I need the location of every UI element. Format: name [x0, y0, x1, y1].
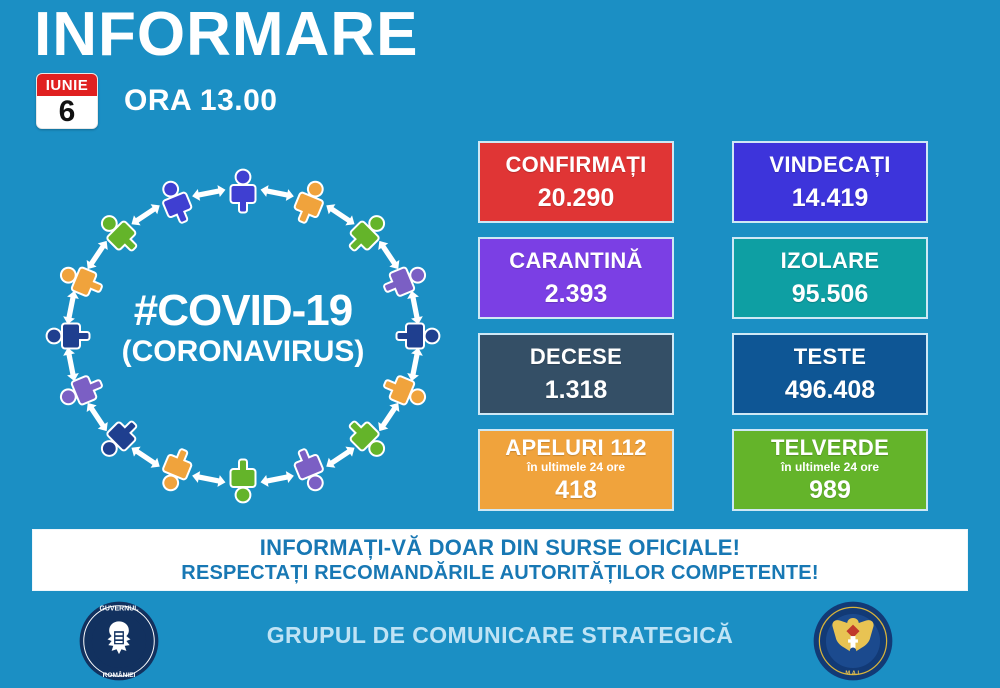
distance-arrow-icon — [83, 238, 112, 273]
person-icon — [47, 324, 90, 349]
distance-arrow-icon — [128, 443, 163, 472]
distance-arrow-icon — [323, 443, 358, 472]
distance-arrow-icon — [323, 200, 358, 229]
person-icon — [156, 445, 196, 494]
svg-text:ROMÂNIEI: ROMÂNIEI — [103, 670, 136, 679]
calendar-day: 6 — [37, 96, 97, 128]
person-icon — [397, 324, 440, 349]
page-title: INFORMARE — [34, 2, 418, 68]
dsu-mai-seal-icon: M.A.I. — [812, 600, 894, 682]
advisory-line-2: RESPECTAȚI RECOMANDĂRILE AUTORITĂȚILOR C… — [181, 561, 818, 585]
stat-telverde: TELVERDEîn ultimele 24 ore989 — [732, 429, 928, 511]
stat-label: DECESE — [530, 344, 622, 370]
distance-arrow-icon — [406, 347, 424, 383]
stat-sublabel: în ultimele 24 ore — [781, 460, 879, 474]
stat-label: CONFIRMAȚI — [505, 152, 646, 178]
distance-arrow-icon — [374, 238, 403, 273]
person-icon — [290, 445, 330, 494]
person-icon — [231, 460, 256, 503]
distance-arrow-icon — [62, 347, 80, 383]
svg-text:M.A.I.: M.A.I. — [845, 671, 861, 677]
stat-value: 14.419 — [792, 183, 868, 213]
stat-value: 989 — [809, 475, 851, 505]
stat-teste: TESTE496.408 — [732, 333, 928, 415]
header: INFORMARE IUNIE 6 ORA 13.00 — [0, 0, 1000, 132]
stat-decese: DECESE1.318 — [478, 333, 674, 415]
stat-confirmati: CONFIRMAȚI20.290 — [478, 141, 674, 223]
statistics-grid: CONFIRMAȚI20.290VINDECAȚI14.419CARANTINĂ… — [478, 141, 928, 516]
person-icon — [380, 372, 429, 412]
distance-arrow-icon — [406, 290, 424, 326]
stat-label: CARANTINĂ — [509, 248, 642, 274]
person-icon — [290, 178, 330, 227]
distance-arrow-icon — [128, 200, 163, 229]
stat-sublabel: în ultimele 24 ore — [527, 460, 625, 474]
person-icon — [156, 178, 196, 227]
calendar-month: IUNIE — [37, 74, 97, 96]
distance-arrow-icon — [259, 470, 295, 488]
calendar-icon: IUNIE 6 — [36, 73, 98, 129]
stat-value: 2.393 — [545, 279, 608, 309]
covid-ring-graphic: #COVID-19 (CORONAVIRUS) — [28, 158, 458, 513]
distance-arrow-icon — [191, 184, 227, 202]
stat-label: TESTE — [794, 344, 866, 370]
person-icon — [231, 170, 256, 213]
stat-label: VINDECAȚI — [769, 152, 890, 178]
svg-text:GUVERNUL: GUVERNUL — [99, 606, 139, 613]
distance-arrow-icon — [83, 400, 112, 435]
stat-carantina: CARANTINĂ2.393 — [478, 237, 674, 319]
distance-arrow-icon — [191, 470, 227, 488]
distance-arrow-icon — [62, 290, 80, 326]
footer: GUVERNUL ROMÂNIEI GRUPUL DE COMUNICARE S… — [0, 596, 1000, 688]
person-icon — [57, 372, 106, 412]
stat-label: APELURI 112 — [505, 435, 646, 461]
stat-value: 95.506 — [792, 279, 868, 309]
date-time-row: IUNIE 6 ORA 13.00 — [36, 73, 277, 129]
distance-arrow-icon — [374, 400, 403, 435]
person-icon — [380, 261, 429, 301]
stat-apeluri-112: APELURI 112în ultimele 24 ore418 — [478, 429, 674, 511]
report-time: ORA 13.00 — [124, 84, 277, 118]
covid-people-ring-icon — [28, 158, 458, 513]
stat-izolare: IZOLARE95.506 — [732, 237, 928, 319]
stat-value: 496.408 — [785, 375, 875, 405]
stat-vindecati: VINDECAȚI14.419 — [732, 141, 928, 223]
stat-label: IZOLARE — [781, 248, 880, 274]
advisory-line-1: INFORMAȚI-VĂ DOAR DIN SURSE OFICIALE! — [260, 535, 740, 561]
stat-value: 1.318 — [545, 375, 608, 405]
stat-value: 418 — [555, 475, 597, 505]
stat-label: TELVERDE — [771, 435, 889, 461]
advisory-banner: INFORMAȚI-VĂ DOAR DIN SURSE OFICIALE! RE… — [32, 529, 968, 591]
person-icon — [57, 261, 106, 301]
distance-arrow-icon — [259, 184, 295, 202]
stat-value: 20.290 — [538, 183, 614, 213]
